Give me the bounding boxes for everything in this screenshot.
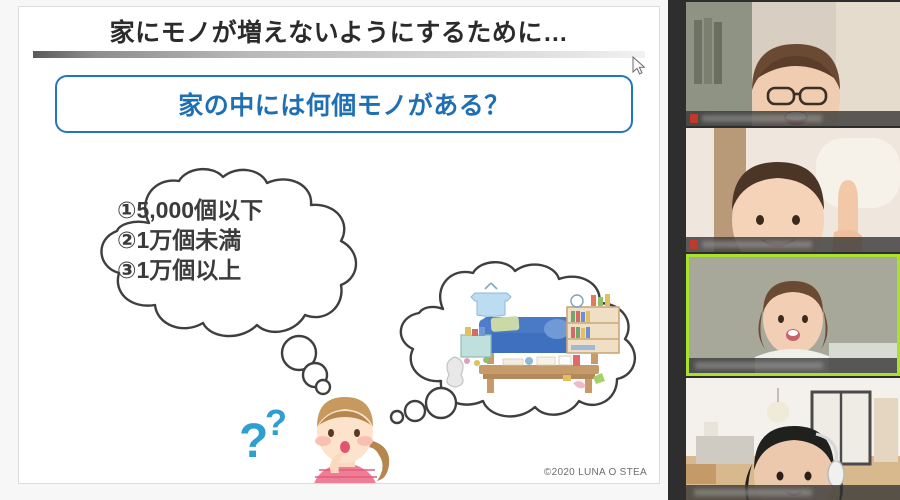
- options-list: ①5,000個以下 ②1万個未満 ③1万個以上: [117, 197, 357, 284]
- option-item: ②1万個未満: [117, 227, 357, 254]
- bookshelf-illustration: [567, 294, 619, 353]
- options-thought-bubble: ①5,000個以下 ②1万個未満 ③1万個以上: [79, 165, 389, 355]
- question-text: 家の中には何個モノがある？: [178, 86, 510, 122]
- video-tile-participant-1[interactable]: [686, 2, 900, 126]
- video-feed: [686, 128, 900, 252]
- video-tile-participant-3-active-speaker[interactable]: [686, 254, 900, 376]
- thinking-woman-illustration: [287, 389, 407, 484]
- video-feed: [686, 378, 900, 500]
- screen-share-meeting-view: 家にモノが増えないようにするために… 家の中には何個モノがある？ ①5,000個…: [0, 0, 900, 500]
- option-item: ①5,000個以下: [117, 197, 357, 224]
- option-item: ③1万個以上: [117, 257, 357, 284]
- participant-name-bar: [689, 358, 897, 373]
- copyright-notice: ©2020 LUNA O STEA: [544, 467, 647, 478]
- video-tile-participant-4[interactable]: [686, 378, 900, 500]
- participant-name-label: [702, 241, 812, 248]
- participant-video-panel: [668, 0, 900, 500]
- video-tile-participant-2[interactable]: [686, 128, 900, 252]
- shared-screen-area: 家にモノが増えないようにするために… 家の中には何個モノがある？ ①5,000個…: [0, 0, 668, 500]
- svg-text:?: ?: [239, 415, 268, 468]
- video-feed: [686, 2, 900, 126]
- participant-name-label: [695, 362, 823, 369]
- participant-name-bar: [686, 111, 900, 126]
- question-callout-box: 家の中には何個モノがある？: [55, 75, 633, 133]
- participant-name-label: [702, 115, 822, 122]
- mic-muted-icon: [690, 240, 698, 249]
- presentation-slide: 家にモノが増えないようにするために… 家の中には何個モノがある？ ①5,000個…: [18, 6, 660, 484]
- video-feed: [689, 257, 897, 373]
- participant-name-bar: [686, 485, 900, 500]
- participant-name-bar: [686, 237, 900, 252]
- mic-muted-icon: [690, 114, 698, 123]
- title-divider-rule: [33, 51, 645, 58]
- slide-title: 家にモノが増えないようにするために…: [19, 13, 659, 49]
- trash-bag-illustration: [447, 357, 463, 387]
- mouse-cursor-arrow-icon: [632, 56, 646, 76]
- participant-name-label: [694, 489, 812, 496]
